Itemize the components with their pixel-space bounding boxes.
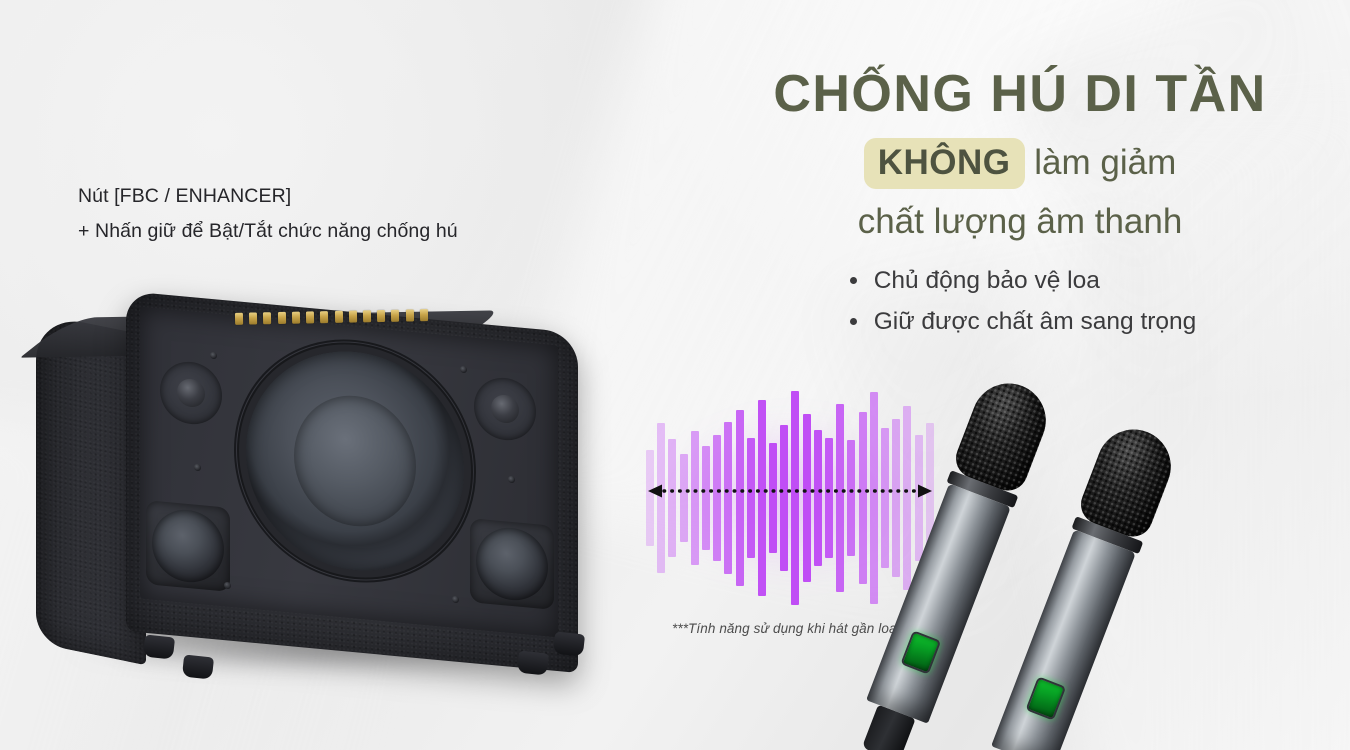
mid-driver-right (470, 518, 554, 610)
list-item: Giữ được chất âm sang trọng (844, 306, 1197, 338)
baffle-screw (194, 464, 201, 472)
gold-knob-icon (349, 311, 357, 323)
khong-badge: KHÔNG (864, 138, 1025, 189)
speaker-product-image (28, 300, 608, 700)
baffle-screw (460, 366, 467, 374)
gold-knob-icon (306, 311, 314, 323)
feature-caption: Nút [FBC / ENHANCER] + Nhấn giữ để Bật/T… (78, 182, 548, 247)
gold-knob-icon (363, 310, 371, 322)
speaker-foot (182, 654, 214, 679)
gold-knob-icon (278, 312, 286, 324)
caption-line-2: + Nhấn giữ để Bật/Tắt chức năng chống hú (78, 217, 548, 246)
speaker-foot (553, 631, 585, 656)
feature-bullet-list: Chủ động bảo vệ loa Giữ được chất âm san… (844, 265, 1197, 347)
gold-knob-icon (420, 309, 428, 321)
subheadline-rest: làm giảm (1034, 143, 1176, 182)
headline-block: CHỐNG HÚ DI TẦN KHÔNG làm giảm chất lượn… (700, 66, 1340, 346)
gold-knob-icon (406, 309, 414, 321)
mic-green-display (1025, 676, 1066, 720)
caption-line-1: Nút [FBC / ENHANCER] (78, 182, 548, 211)
baffle-screw (224, 582, 231, 590)
speaker-foot (517, 650, 549, 675)
microphone-pair-image (955, 370, 1350, 750)
promo-banner: Nút [FBC / ENHANCER] + Nhấn giữ để Bật/T… (0, 0, 1350, 750)
gold-knob-icon (320, 311, 328, 323)
baffle-screw (210, 352, 217, 360)
baffle-screw (508, 476, 515, 484)
gold-knob-icon (292, 312, 300, 324)
gold-knob-icon (235, 313, 243, 325)
gold-knob-icon (249, 312, 257, 324)
subheadline-line-1: KHÔNG làm giảm (700, 138, 1340, 189)
waveform-graphic (640, 385, 940, 610)
subheadline-line-2: chất lượng âm thanh (700, 201, 1340, 242)
gold-knob-icon (263, 312, 271, 324)
speaker-foot (143, 634, 175, 659)
gold-knob-icon (391, 310, 399, 322)
page-title: CHỐNG HÚ DI TẦN (700, 66, 1340, 122)
gold-knob-icon (334, 311, 342, 323)
range-arrow-icon (646, 482, 934, 500)
mic-body (991, 529, 1136, 750)
baffle-screw (452, 596, 459, 604)
list-item: Chủ động bảo vệ loa (844, 265, 1197, 297)
gold-knob-icon (377, 310, 385, 322)
mic-green-display (900, 630, 941, 674)
mid-driver-left (146, 500, 230, 592)
